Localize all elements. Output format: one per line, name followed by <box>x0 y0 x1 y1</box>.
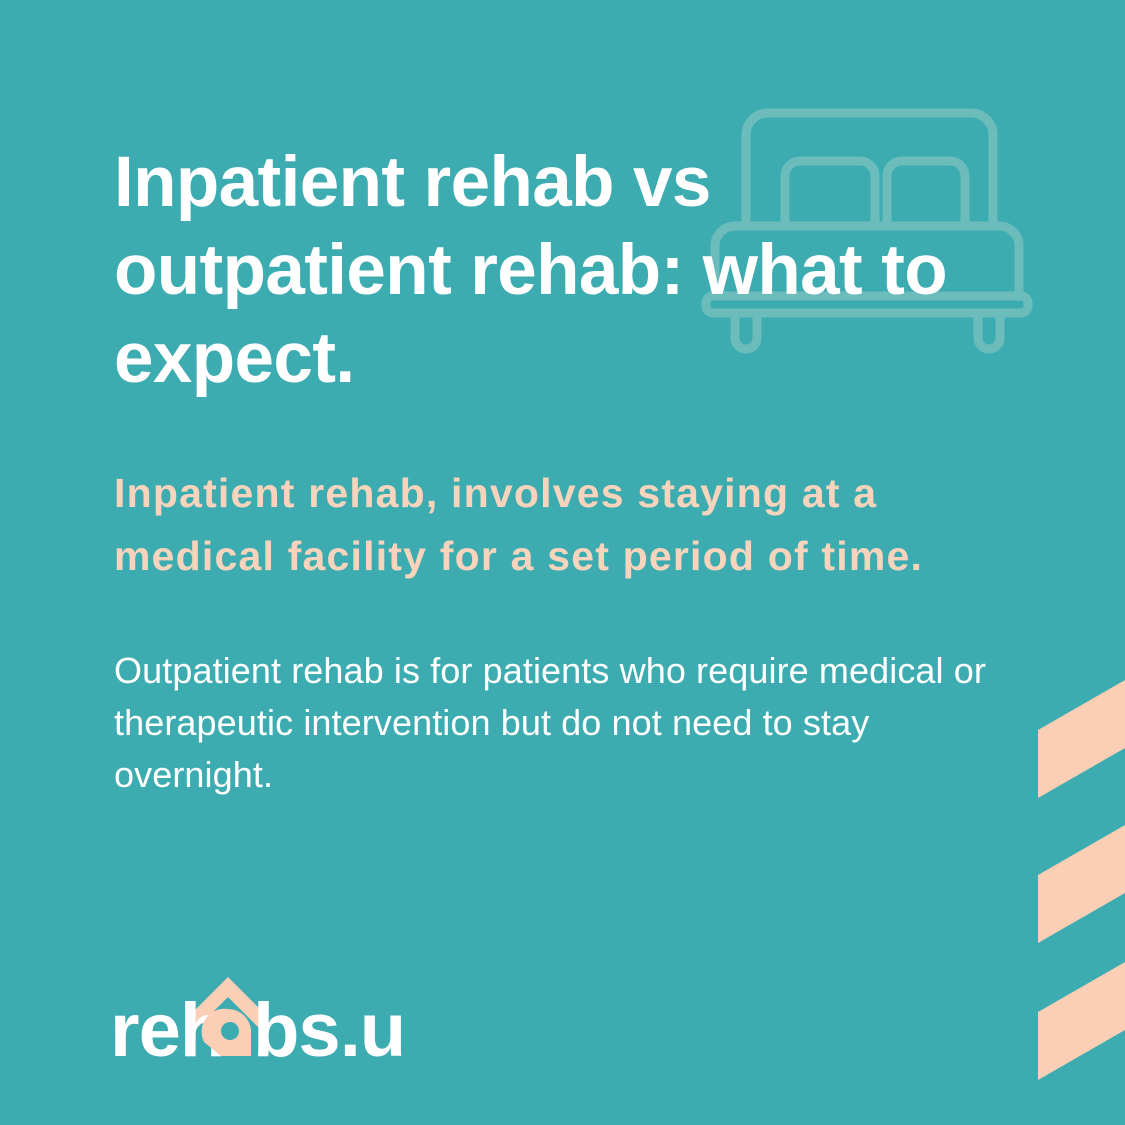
social-card: Inpatient rehab vs outpatient rehab: wha… <box>0 0 1125 1125</box>
page-title: Inpatient rehab vs outpatient rehab: wha… <box>114 139 994 403</box>
body-paragraph: Outpatient rehab is for patients who req… <box>114 645 1034 801</box>
logo[interactable]: reh bs.uk rehabs.uk <box>110 968 410 1068</box>
subheading: Inpatient rehab, involves staying at a m… <box>114 462 1044 588</box>
content-column: Inpatient rehab vs outpatient rehab: wha… <box>114 0 1054 1125</box>
svg-text:bs.uk: bs.uk <box>253 988 410 1068</box>
